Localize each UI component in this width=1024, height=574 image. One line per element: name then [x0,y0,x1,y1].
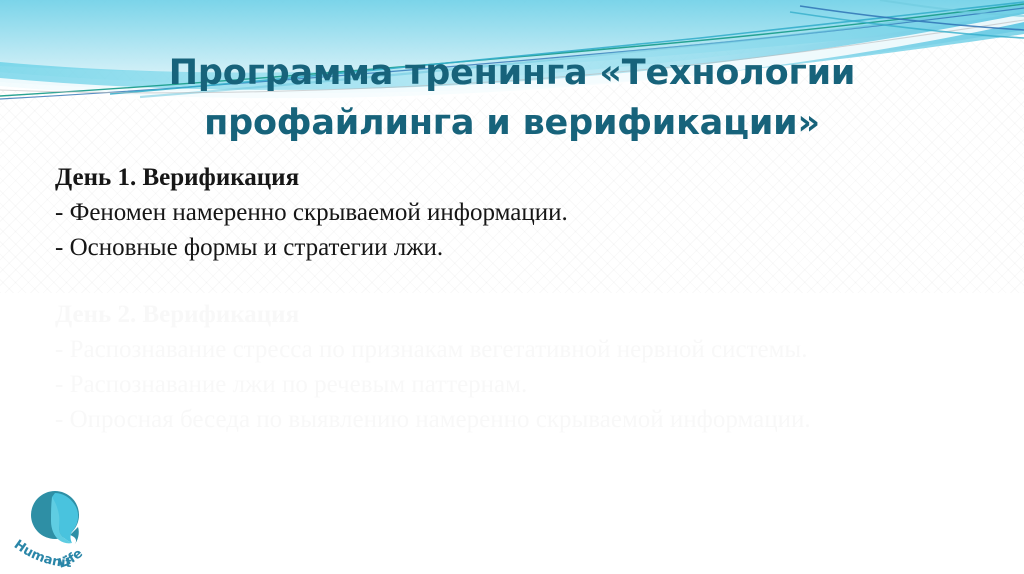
day2-bullet-3: - Опросная беседа по выявлению намеренно… [55,402,955,437]
day1-bullet-2: - Основные формы и стратегии лжи. [55,230,955,265]
slide-title-line-2: профайлинга и верификации» [0,98,1024,148]
day1-heading: День 1. Верификация [55,160,955,195]
day1-bullet-1: - Феномен намеренно скрываемой информаци… [55,195,955,230]
day2-heading: День 2. Верификация [55,297,955,332]
slide-canvas: Программа тренинга «Технологии профайлин… [0,0,1024,574]
day2-content-faded: День 2. Верификация - Распознавание стре… [55,297,955,437]
logo-word-life: Life [56,546,86,571]
humanity-life-logo: Humanity Life [8,487,108,571]
slide-title-line-1: Программа тренинга «Технологии [0,48,1024,98]
day2-bullet-2: - Распознавание лжи по речевым паттернам… [55,367,955,402]
slide-title: Программа тренинга «Технологии профайлин… [0,48,1024,148]
speech-bubble-head-icon [31,491,79,545]
day1-content: День 1. Верификация - Феномен намеренно … [55,160,955,265]
day2-bullet-1: - Распознавание стресса по признакам вег… [55,332,955,367]
